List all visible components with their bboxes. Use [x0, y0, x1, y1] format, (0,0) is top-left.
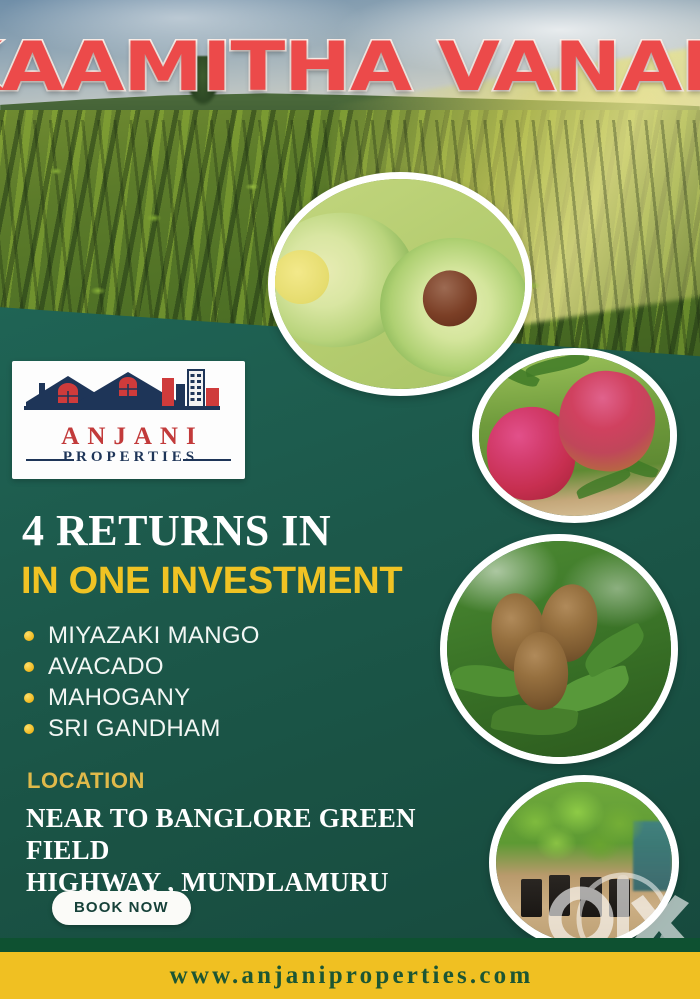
offering-label: AVACADO: [48, 653, 164, 681]
headline-primary: 4 RETURNS IN: [22, 509, 331, 553]
book-now-button[interactable]: BOOK NOW: [52, 891, 191, 925]
list-item: MAHOGANY: [24, 682, 424, 713]
footer-divider-strip: [0, 938, 700, 952]
sapling-foliage: [503, 785, 665, 882]
offering-label: SRI GANDHAM: [48, 715, 221, 743]
bullet-dot-icon: [24, 631, 34, 641]
logo-brand-name: ANJANI: [12, 423, 245, 451]
poster-advertisement: KAAMITHA VANAM: [0, 0, 700, 999]
grow-bag: [609, 879, 630, 918]
bullet-dot-icon: [24, 724, 34, 734]
bullet-dot-icon: [24, 662, 34, 672]
offering-label: MIYAZAKI MANGO: [48, 622, 260, 650]
house-skyline-logo-icon: [12, 366, 245, 428]
list-item: MIYAZAKI MANGO: [24, 620, 424, 651]
avocado-seed: [420, 268, 479, 329]
anjani-properties-logo[interactable]: ANJANI PROPERTIES: [12, 361, 245, 479]
list-item: SRI GANDHAM: [24, 713, 424, 744]
list-item: AVACADO: [24, 651, 424, 682]
grow-bag: [549, 875, 570, 915]
poster-title: KAAMITHA VANAM: [0, 34, 700, 102]
miyazaki-mango-photo: [472, 348, 677, 523]
location-address: NEAR TO BANGLORE GREEN FIELD HIGHWAY , M…: [26, 803, 496, 899]
offering-label: MAHOGANY: [48, 684, 190, 712]
logo-subtitle-group: PROPERTIES: [26, 449, 231, 471]
saplings-photo: [489, 775, 679, 950]
footer-website-url[interactable]: www.anjaniproperties.com: [0, 952, 700, 999]
mahogany-pods-photo: [440, 534, 678, 764]
logo-subtitle: PROPERTIES: [26, 449, 231, 466]
address-line-1: NEAR TO BANGLORE GREEN FIELD: [26, 803, 496, 867]
location-label: LOCATION: [27, 768, 145, 794]
headline-secondary: IN ONE INVESTMENT: [21, 562, 402, 600]
grow-bag: [521, 879, 542, 918]
offerings-list: MIYAZAKI MANGO AVACADO MAHOGANY SRI GAND…: [24, 620, 424, 744]
bullet-dot-icon: [24, 693, 34, 703]
grow-bag: [580, 877, 601, 917]
avocado-pit-cavity: [270, 246, 333, 307]
